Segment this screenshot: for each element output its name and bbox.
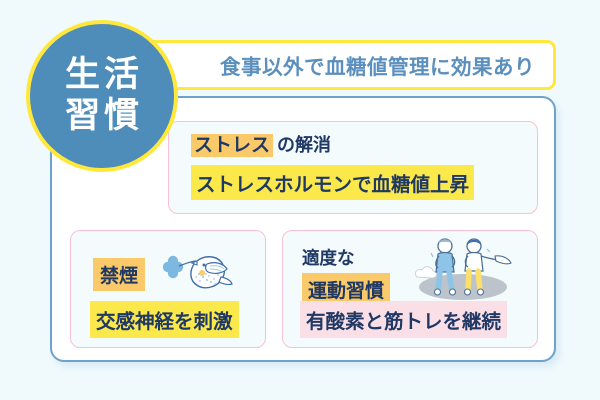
panel-stress: ストレスの解消 ストレスホルモンで血糖値上昇	[168, 121, 538, 214]
lifestyle-infographic: 食事以外で血糖値管理に効果あり ストレスの解消 ストレスホルモンで血糖値上昇 禁…	[0, 0, 600, 400]
smoking-heading-row: 禁煙	[93, 251, 235, 297]
panel-exercise: 適度な 運動習慣	[282, 230, 538, 348]
badge-line-2: 習慣	[61, 96, 143, 137]
badge-line-1: 生活	[61, 55, 143, 96]
smoking-detail-row: 交感神経を刺激	[90, 301, 239, 338]
dove-with-clover-icon	[159, 251, 235, 297]
stress-heading: ストレスの解消	[191, 134, 537, 157]
exercise-detail-highlight: 有酸素と筋トレを継続	[300, 301, 507, 338]
two-people-walking-icon	[411, 235, 523, 303]
stress-term-highlight: ストレス	[191, 134, 273, 157]
panel-smoking: 禁煙	[70, 230, 266, 348]
smoking-detail-highlight: 交感神経を刺激	[90, 301, 239, 338]
stress-detail-row: ストレスホルモンで血糖値上昇	[191, 165, 537, 200]
lifestyle-habits-badge: 生活 習慣	[26, 20, 178, 172]
exercise-heading: 適度な 運動習慣	[302, 245, 390, 306]
exercise-prefix: 適度な	[302, 245, 390, 270]
stress-detail-highlight: ストレスホルモンで血糖値上昇	[191, 165, 474, 200]
exercise-detail-row: 有酸素と筋トレを継続	[300, 301, 507, 338]
smoking-term-highlight: 禁煙	[93, 258, 145, 291]
page-title: 食事以外で血糖値管理に効果あり	[220, 50, 535, 80]
stress-term-suffix: の解消	[273, 137, 331, 155]
